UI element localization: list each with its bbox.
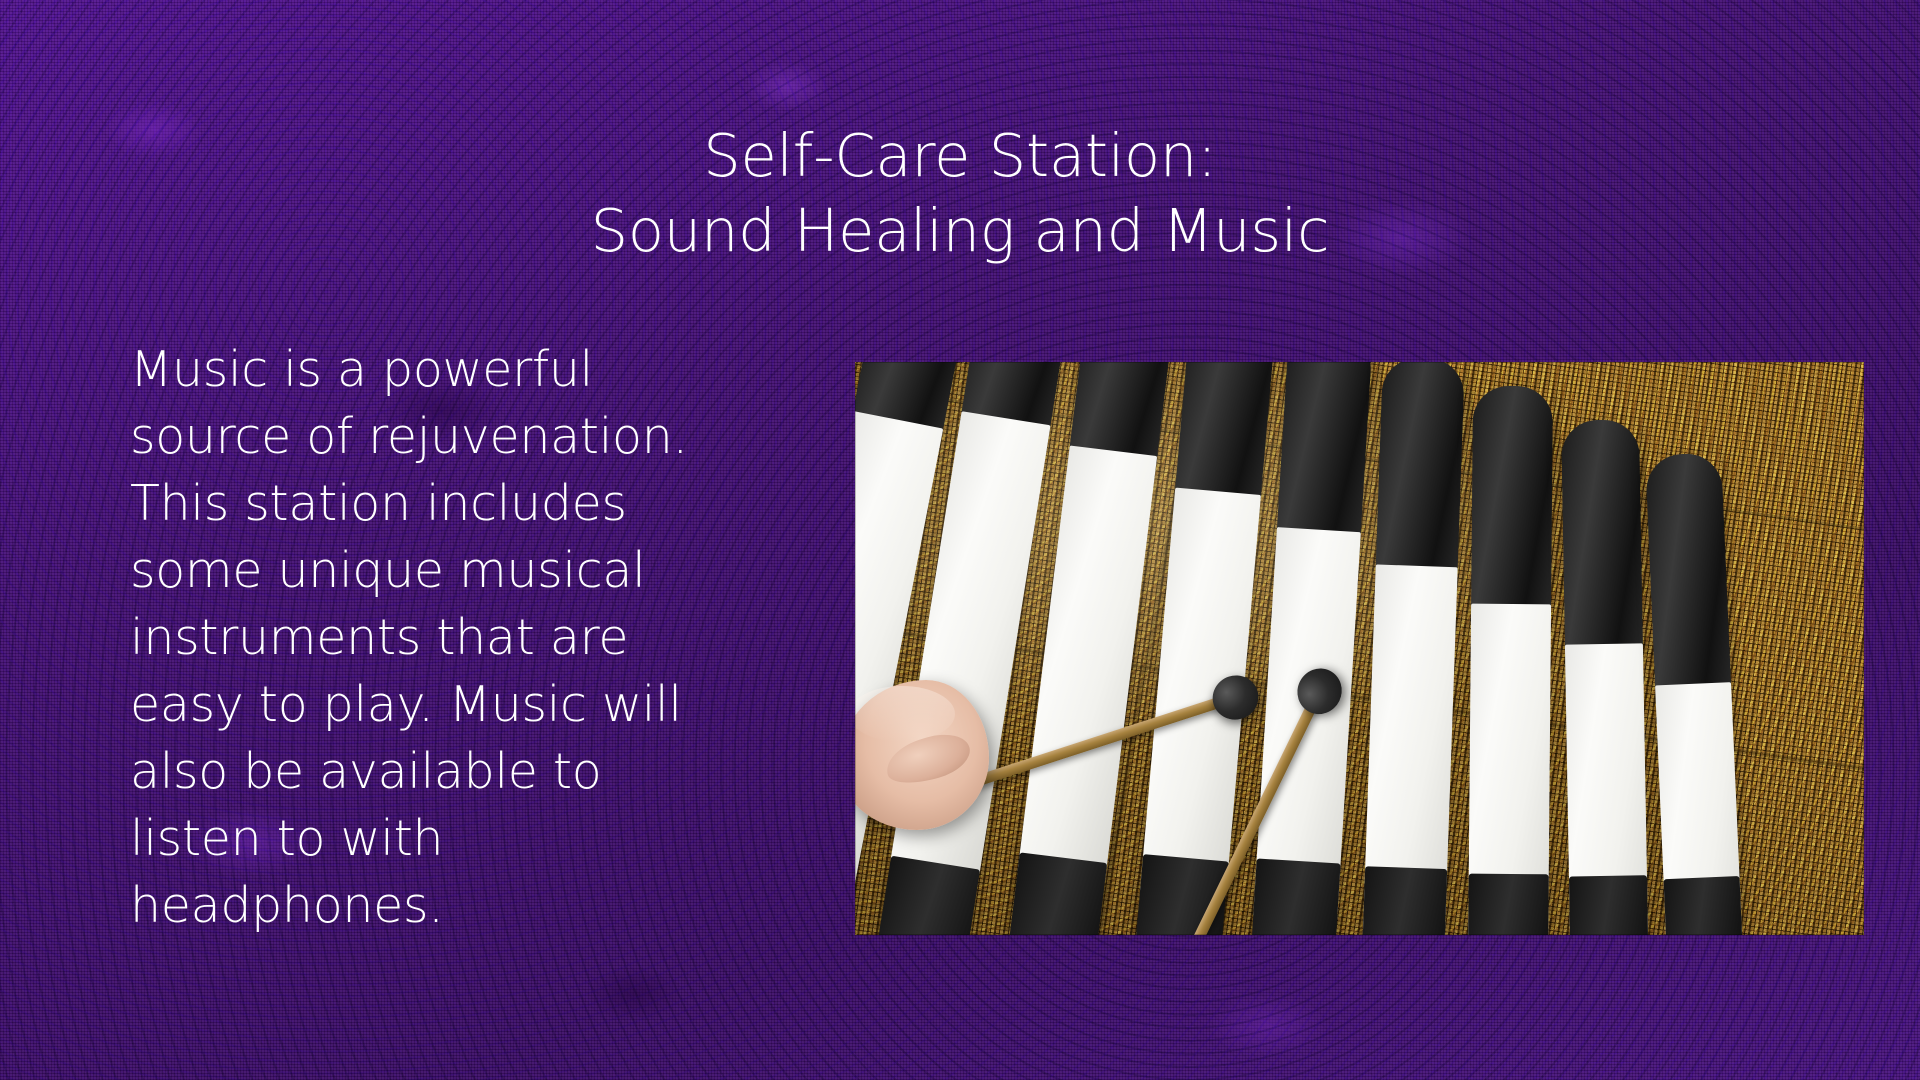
- body-line: Music is a powerful: [130, 336, 690, 403]
- title-line-2: Sound Healing and Music: [120, 193, 1800, 268]
- slide: Self-Care Station: Sound Healing and Mus…: [0, 0, 1920, 1080]
- body-line: This station includes: [130, 470, 690, 537]
- body-text: Music is a powerful source of rejuvenati…: [130, 336, 690, 939]
- body-line: instruments that are: [130, 604, 690, 671]
- body-line: headphones.: [130, 872, 690, 939]
- title-line-1: Self-Care Station:: [120, 118, 1800, 193]
- body-line: source of rejuvenation.: [130, 403, 690, 470]
- body-line: listen to with: [130, 805, 690, 872]
- body-line: also be available to: [130, 738, 690, 805]
- xylophone-photo: [855, 362, 1864, 935]
- page-title: Self-Care Station: Sound Healing and Mus…: [120, 118, 1800, 268]
- photo-border: [855, 362, 1864, 935]
- body-line: some unique musical: [130, 537, 690, 604]
- body-line: easy to play. Music will: [130, 671, 690, 738]
